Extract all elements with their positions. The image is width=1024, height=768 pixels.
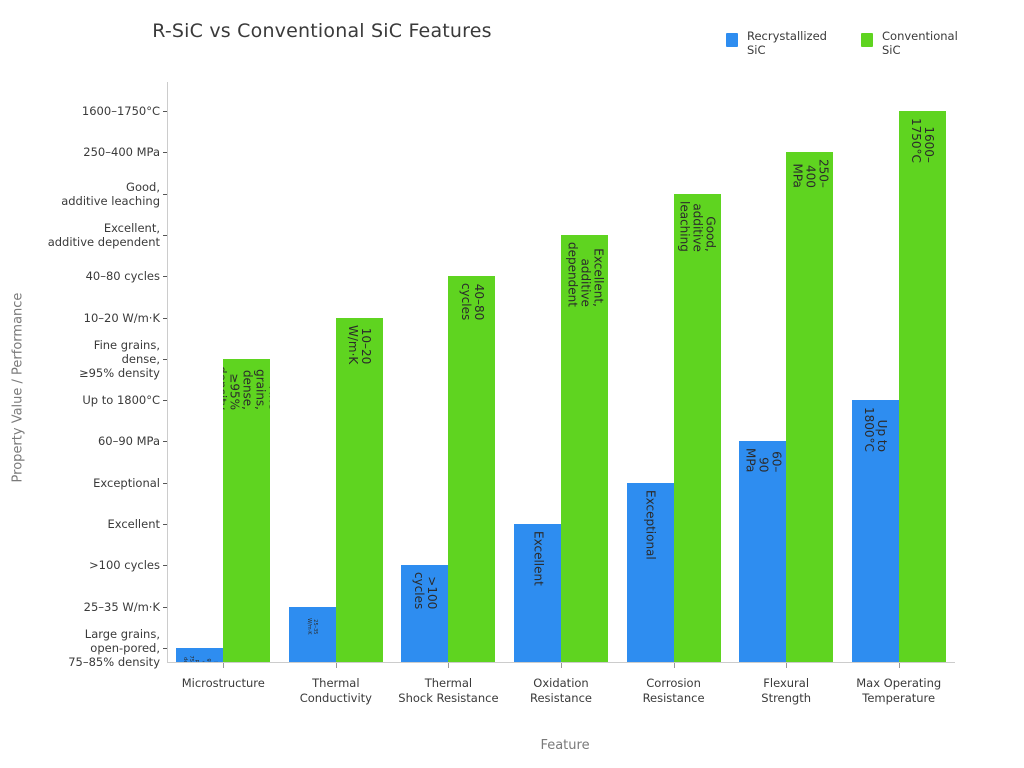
x-axis-tick-mark xyxy=(674,663,675,668)
y-axis-tick-label: Excellent, additive dependent xyxy=(0,221,160,249)
bar-value-label: 40–80 cycles xyxy=(459,283,485,320)
y-axis-tick-mark xyxy=(163,648,167,649)
x-axis-tick-mark xyxy=(448,663,449,668)
bar-value-label: Fine grains, dense, ≥95% density xyxy=(223,366,270,410)
x-axis-tick-mark xyxy=(223,663,224,668)
bar[interactable]: 10–20 W/m·K xyxy=(336,318,383,662)
chart-canvas: R-SiC vs Conventional SiC Features Recry… xyxy=(0,0,1024,768)
bar[interactable]: Fine grains, dense, ≥95% density xyxy=(223,359,270,662)
legend-item[interactable]: Conventional SiC xyxy=(861,30,956,57)
chart-legend: Recrystallized SiCConventional SiC xyxy=(726,30,956,57)
y-axis-tick-label: 40–80 cycles xyxy=(0,269,160,283)
x-axis-tick-mark xyxy=(899,663,900,668)
y-axis-tick-label: 1600–1750°C xyxy=(0,104,160,118)
bar[interactable]: 25–35 W/m·K xyxy=(289,607,336,662)
y-axis-tick-label: Up to 1800°C xyxy=(0,393,160,407)
x-axis-title: Feature xyxy=(0,738,1024,753)
legend-item[interactable]: Recrystallized SiC xyxy=(726,30,821,57)
y-axis-tick-mark xyxy=(163,276,167,277)
bar-value-label: Good, additive leaching xyxy=(678,201,717,252)
legend-swatch xyxy=(861,33,873,47)
y-axis-tick-mark xyxy=(163,441,167,442)
y-axis-tick-mark xyxy=(163,359,167,360)
y-axis-tick-mark xyxy=(163,607,167,608)
bar-value-label: >100 cycles xyxy=(412,572,438,609)
legend-swatch xyxy=(726,33,738,47)
y-axis-tick-label: Large grains, open-pored, 75–85% density xyxy=(0,627,160,669)
bar[interactable]: 250–400 MPa xyxy=(786,152,833,662)
y-axis-tick-label: Fine grains, dense, ≥95% density xyxy=(0,338,160,380)
y-axis-tick-label: Excellent xyxy=(0,517,160,531)
y-axis-tick-label: Good, additive leaching xyxy=(0,180,160,208)
bar-value-label: 250–400 MPa xyxy=(790,159,829,188)
y-axis-tick-mark xyxy=(163,152,167,153)
plot-area: Large grains, open-pored, 75–85% density… xyxy=(167,82,955,663)
bar[interactable]: Large grains, open-pored, 75–85% density xyxy=(176,648,223,662)
bar[interactable]: 40–80 cycles xyxy=(448,276,495,662)
y-axis-tick-mark xyxy=(163,565,167,566)
bar[interactable]: 60–90 MPa xyxy=(739,441,786,662)
bar[interactable]: Good, additive leaching xyxy=(674,194,721,662)
bar[interactable]: Exceptional xyxy=(627,483,674,662)
bar-value-label: Large grains, open-pored, 75–85% density xyxy=(182,652,218,662)
bar[interactable]: Excellent xyxy=(514,524,561,662)
bar-value-label: 1600–1750°C xyxy=(909,118,935,163)
y-axis-tick-label: 60–90 MPa xyxy=(0,434,160,448)
bar-value-label: Exceptional xyxy=(644,490,657,560)
y-axis-tick-label: 10–20 W/m·K xyxy=(0,311,160,325)
bar-value-label: 25–35 W/m·K xyxy=(306,611,318,635)
bar-value-label: 60–90 MPa xyxy=(743,448,782,472)
y-axis-tick-label: 250–400 MPa xyxy=(0,145,160,159)
y-axis-tick-mark xyxy=(163,524,167,525)
bar[interactable]: 1600–1750°C xyxy=(899,111,946,662)
legend-label: Recrystallized SiC xyxy=(747,30,821,57)
y-axis-tick-mark xyxy=(163,318,167,319)
bar[interactable]: Excellent, additive dependent xyxy=(561,235,608,662)
x-axis-tick-mark xyxy=(786,663,787,668)
y-axis-tick-label: >100 cycles xyxy=(0,558,160,572)
x-axis-tick-label: Max Operating Temperature xyxy=(824,676,974,706)
y-axis-tick-mark xyxy=(163,483,167,484)
x-axis-title-text: Feature xyxy=(540,738,589,753)
y-axis-tick-label: Exceptional xyxy=(0,476,160,490)
legend-label: Conventional SiC xyxy=(882,30,956,57)
bar-value-label: Up to 1800°C xyxy=(862,407,888,452)
x-axis-tick-mark xyxy=(336,663,337,668)
bar[interactable]: >100 cycles xyxy=(401,565,448,662)
bar-value-label: 10–20 W/m·K xyxy=(346,325,372,364)
y-axis-tick-mark xyxy=(163,194,167,195)
chart-title-text: R-SiC vs Conventional SiC Features xyxy=(152,20,492,42)
x-axis-tick-mark xyxy=(561,663,562,668)
bar-value-label: Excellent, additive dependent xyxy=(565,242,604,307)
y-axis-tick-label: 25–35 W/m·K xyxy=(0,600,160,614)
y-axis-tick-mark xyxy=(163,400,167,401)
y-axis-tick-mark xyxy=(163,235,167,236)
y-axis-tick-mark xyxy=(163,111,167,112)
bar-value-label: Excellent xyxy=(531,531,544,586)
y-axis-spine xyxy=(167,82,168,663)
bar[interactable]: Up to 1800°C xyxy=(852,400,899,662)
